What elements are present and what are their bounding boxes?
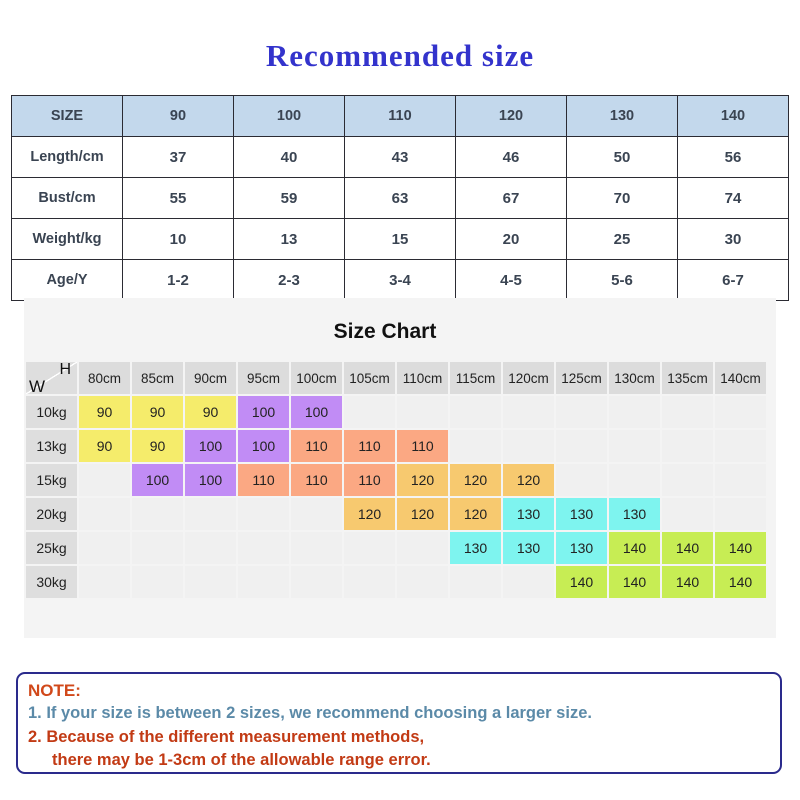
rec-header-cell: 110 (345, 96, 456, 137)
grid-cell (344, 532, 395, 564)
table-row: Bust/cm 55 59 63 67 70 74 (12, 178, 789, 219)
rec-header-cell: 100 (234, 96, 345, 137)
grid-cell: 100 (238, 396, 289, 428)
grid-cell: 100 (291, 396, 342, 428)
row-label: Bust/cm (12, 178, 123, 219)
grid-row: 25kg130130130140140140 (26, 532, 766, 564)
table-cell: 63 (345, 178, 456, 219)
table-cell: 46 (456, 137, 567, 178)
grid-cell: 100 (185, 464, 236, 496)
grid-cell: 130 (556, 532, 607, 564)
grid-cell: 140 (556, 566, 607, 598)
table-cell: 1-2 (123, 260, 234, 301)
table-cell: 67 (456, 178, 567, 219)
grid-cell (291, 532, 342, 564)
table-cell: 43 (345, 137, 456, 178)
grid-cell (450, 566, 501, 598)
grid-row-header: 13kg (26, 430, 77, 462)
grid-cell (79, 464, 130, 496)
grid-cell (715, 396, 766, 428)
grid-column-header: 105cm (344, 362, 395, 394)
grid-cell (79, 566, 130, 598)
grid-cell (450, 430, 501, 462)
grid-cell: 130 (450, 532, 501, 564)
grid-column-header: 135cm (662, 362, 713, 394)
grid-cell (556, 430, 607, 462)
grid-row-header: 10kg (26, 396, 77, 428)
grid-row-header: 30kg (26, 566, 77, 598)
grid-cell (397, 532, 448, 564)
grid-cell (662, 396, 713, 428)
rec-header-cell: 130 (567, 96, 678, 137)
grid-cell (344, 396, 395, 428)
grid-header-row: H W 80cm 85cm 90cm 95cm 100cm 105cm 110c… (26, 362, 766, 394)
grid-column-header: 125cm (556, 362, 607, 394)
grid-cell (132, 498, 183, 530)
grid-cell: 140 (715, 566, 766, 598)
note-box: NOTE: 1. If your size is between 2 sizes… (16, 672, 782, 774)
grid-row: 20kg120120120130130130 (26, 498, 766, 530)
table-row: Weight/kg 10 13 15 20 25 30 (12, 219, 789, 260)
grid-cell (238, 532, 289, 564)
grid-cell: 100 (185, 430, 236, 462)
grid-column-header: 90cm (185, 362, 236, 394)
height-axis-label: H (59, 361, 71, 379)
grid-row: 30kg140140140140 (26, 566, 766, 598)
grid-cell: 110 (238, 464, 289, 496)
table-cell: 25 (567, 219, 678, 260)
grid-row: 13kg9090100100110110110 (26, 430, 766, 462)
grid-column-header: 130cm (609, 362, 660, 394)
grid-cell: 90 (132, 430, 183, 462)
grid-cell (132, 532, 183, 564)
table-cell: 3-4 (345, 260, 456, 301)
rec-header-cell: 90 (123, 96, 234, 137)
table-row: Length/cm 37 40 43 46 50 56 (12, 137, 789, 178)
grid-cell (238, 498, 289, 530)
note-line-3: there may be 1-3cm of the allowable rang… (28, 749, 770, 772)
grid-cell (79, 532, 130, 564)
page-title: Recommended size (0, 38, 800, 74)
grid-cell: 100 (238, 430, 289, 462)
grid-cell (344, 566, 395, 598)
grid-cell: 130 (503, 532, 554, 564)
grid-cell (609, 396, 660, 428)
grid-row: 15kg100100110110110120120120 (26, 464, 766, 496)
grid-cell (238, 566, 289, 598)
grid-cell (397, 396, 448, 428)
table-cell: 5-6 (567, 260, 678, 301)
table-cell: 55 (123, 178, 234, 219)
grid-cell: 120 (397, 464, 448, 496)
table-cell: 15 (345, 219, 456, 260)
grid-row-header: 25kg (26, 532, 77, 564)
grid-row-header: 20kg (26, 498, 77, 530)
grid-cell: 110 (397, 430, 448, 462)
grid-cell: 140 (662, 566, 713, 598)
grid-cell (185, 566, 236, 598)
grid-cell: 110 (291, 430, 342, 462)
grid-cell (503, 566, 554, 598)
grid-cell: 120 (344, 498, 395, 530)
grid-cell: 100 (132, 464, 183, 496)
grid-body: 10kg90909010010013kg90901001001101101101… (26, 396, 766, 598)
row-label: Age/Y (12, 260, 123, 301)
table-cell: 4-5 (456, 260, 567, 301)
grid-row: 10kg909090100100 (26, 396, 766, 428)
size-chart-panel: Size Chart H W 80cm 85cm 90cm 95cm 100cm… (24, 298, 776, 638)
row-label: Length/cm (12, 137, 123, 178)
grid-cell (79, 498, 130, 530)
size-chart-title: Size Chart (24, 320, 746, 344)
grid-column-header: 100cm (291, 362, 342, 394)
grid-cell (397, 566, 448, 598)
table-cell: 30 (678, 219, 789, 260)
grid-cell: 120 (397, 498, 448, 530)
table-cell: 74 (678, 178, 789, 219)
grid-column-header: 115cm (450, 362, 501, 394)
grid-cell: 120 (450, 498, 501, 530)
grid-column-header: 80cm (79, 362, 130, 394)
recommended-size-table: SIZE 90 100 110 120 130 140 Length/cm 37… (11, 95, 789, 301)
weight-axis-label: W (29, 377, 45, 397)
table-cell: 10 (123, 219, 234, 260)
grid-cell: 90 (185, 396, 236, 428)
table-cell: 37 (123, 137, 234, 178)
grid-cell (662, 430, 713, 462)
grid-cell: 110 (344, 430, 395, 462)
grid-cell: 120 (503, 464, 554, 496)
grid-row-header: 15kg (26, 464, 77, 496)
table-cell: 59 (234, 178, 345, 219)
rec-header-cell: 120 (456, 96, 567, 137)
grid-cell: 140 (609, 532, 660, 564)
note-line-1: 1. If your size is between 2 sizes, we r… (28, 701, 770, 726)
grid-cell (291, 498, 342, 530)
grid-cell (609, 430, 660, 462)
grid-cell: 110 (344, 464, 395, 496)
grid-cell (556, 396, 607, 428)
grid-cell: 90 (79, 430, 130, 462)
grid-cell (556, 464, 607, 496)
grid-cell (291, 566, 342, 598)
grid-cell: 130 (609, 498, 660, 530)
table-cell: 40 (234, 137, 345, 178)
grid-cell: 140 (715, 532, 766, 564)
grid-cell: 110 (291, 464, 342, 496)
size-chart-page: Recommended size SIZE 90 100 110 120 130… (0, 0, 800, 800)
table-header-row: SIZE 90 100 110 120 130 140 (12, 96, 789, 137)
row-label: Weight/kg (12, 219, 123, 260)
note-heading: NOTE: (28, 680, 770, 701)
rec-header-cell: SIZE (12, 96, 123, 137)
note-line-2: 2. Because of the different measurement … (28, 726, 770, 749)
grid-column-header: 85cm (132, 362, 183, 394)
table-row: Age/Y 1-2 2-3 3-4 4-5 5-6 6-7 (12, 260, 789, 301)
rec-header-cell: 140 (678, 96, 789, 137)
table-cell: 56 (678, 137, 789, 178)
grid-column-header: 95cm (238, 362, 289, 394)
size-chart-grid: H W 80cm 85cm 90cm 95cm 100cm 105cm 110c… (24, 360, 768, 600)
grid-cell (185, 498, 236, 530)
grid-cell (715, 498, 766, 530)
grid-cell: 90 (79, 396, 130, 428)
grid-cell (715, 464, 766, 496)
grid-cell (662, 464, 713, 496)
grid-cell (503, 396, 554, 428)
grid-column-header: 140cm (715, 362, 766, 394)
table-cell: 2-3 (234, 260, 345, 301)
grid-cell: 90 (132, 396, 183, 428)
table-cell: 50 (567, 137, 678, 178)
table-cell: 20 (456, 219, 567, 260)
grid-cell: 120 (450, 464, 501, 496)
table-cell: 70 (567, 178, 678, 219)
grid-column-header: 120cm (503, 362, 554, 394)
axis-corner-cell: H W (26, 362, 77, 394)
grid-cell: 140 (662, 532, 713, 564)
grid-cell (132, 566, 183, 598)
grid-cell (715, 430, 766, 462)
grid-cell (503, 430, 554, 462)
grid-cell (662, 498, 713, 530)
grid-cell (185, 532, 236, 564)
table-cell: 13 (234, 219, 345, 260)
grid-cell (609, 464, 660, 496)
grid-cell: 130 (556, 498, 607, 530)
grid-cell: 130 (503, 498, 554, 530)
grid-column-header: 110cm (397, 362, 448, 394)
grid-cell: 140 (609, 566, 660, 598)
table-cell: 6-7 (678, 260, 789, 301)
grid-cell (450, 396, 501, 428)
